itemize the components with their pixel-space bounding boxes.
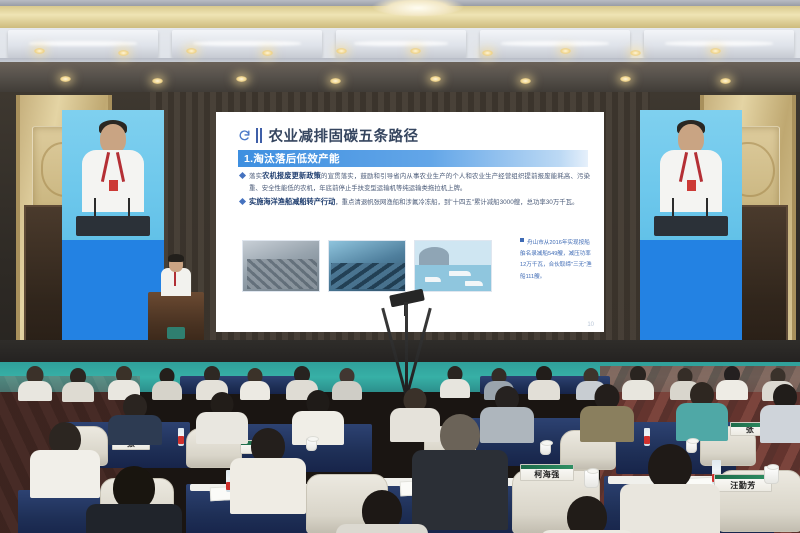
photo-harbor-boats: [414, 240, 492, 292]
water-bottle: [178, 428, 184, 446]
right-led-screen: [640, 110, 742, 365]
lectern-emblem: [167, 327, 185, 339]
ceiling-downlight: [410, 48, 421, 54]
ceiling-downlight: [186, 48, 197, 54]
lectern-top: [654, 216, 728, 236]
placard-label: 柯海强: [534, 469, 560, 480]
speaker-video-feed: [640, 110, 742, 240]
photo-farm-machinery-scrapping: 完善农机报废更新政策: [242, 240, 320, 292]
ceiling-downlight: [336, 48, 347, 54]
section-banner-label: 1.淘汰落后低效产能: [238, 151, 340, 166]
slide-bullet: 实施海洋渔船减船转产行动，重点清退帆张网渔船和涉氟冷冻船，到"十四五"累计减船3…: [240, 196, 590, 209]
ceiling-soffit: [0, 62, 800, 96]
ceiling-downlight: [262, 50, 273, 56]
boat: [425, 277, 441, 282]
diamond-bullet-icon: [239, 198, 246, 205]
speaker-on-stage-body: [161, 268, 191, 296]
slide-bullet-list: 落实农机报废更新政策的宣贯落实，鼓励和引导省内从事农业生产的个人和农业生产经营组…: [240, 170, 590, 210]
conference-hall-photo: 农业减排固碳五条路径 1.淘汰落后低效产能 落实农机报废更新政策的宣贯落实，鼓励…: [0, 0, 800, 533]
ceiling-coffer: [172, 30, 322, 58]
name-badge: [687, 180, 696, 191]
photo-fishing-vessel-reduction: 海洋渔船减船: [328, 240, 406, 292]
ceiling-downlight: [152, 78, 163, 84]
ceiling-downlight: [236, 76, 247, 82]
slide-bullet-text: 落实农机报废更新政策的宣贯落实，鼓励和引导省内从事农业生产的个人和农业生产经营组…: [249, 170, 590, 194]
attendee: [108, 394, 162, 440]
attendee: [760, 384, 800, 438]
attendee: [230, 428, 306, 508]
ceiling-downlight: [330, 78, 341, 84]
ceiling-coffer: [8, 30, 158, 58]
audience-area: 张 张 皮: [0, 366, 800, 533]
ceiling-coffer: [644, 30, 794, 58]
boat: [449, 271, 471, 276]
ceiling-downlight: [118, 50, 129, 56]
attendee: [540, 496, 634, 533]
speaker-on-stage-hair: [168, 254, 184, 262]
ceiling: [0, 0, 800, 96]
square-bullet-icon: [520, 238, 524, 242]
ceiling-downlight: [720, 78, 731, 84]
slide-side-note: 舟山市从2016年实现按船舶名录减船549艘，减压功率12万千瓦，合伙取缔"三无…: [520, 238, 594, 283]
ceiling-downlight: [34, 48, 45, 54]
tea-cup: [584, 470, 599, 488]
slide-bullet: 落实农机报废更新政策的宣贯落实，鼓励和引导省内从事农业生产的个人和农业生产经营组…: [240, 170, 590, 194]
slide-header: 农业减排固碳五条路径: [238, 122, 590, 148]
island-shape: [419, 247, 449, 265]
lectern: [148, 292, 204, 344]
title-accent-bars: [256, 128, 262, 143]
attendee: [62, 368, 94, 400]
ceiling-downlight: [482, 50, 493, 56]
diamond-bullet-icon: [239, 172, 246, 179]
ceiling-downlight: [430, 76, 441, 82]
slide-bullet-text: 实施海洋渔船减船转产行动，重点清退帆张网渔船和涉氟冷冻船，到"十四五"累计减船3…: [249, 196, 578, 209]
ceiling-downlight: [560, 48, 571, 54]
tea-cup: [540, 442, 551, 455]
attendee: [676, 382, 728, 436]
ceiling-downlight: [630, 50, 641, 56]
tea-cup: [306, 438, 317, 451]
attendee: [620, 444, 720, 533]
attendee: [18, 366, 52, 398]
side-note-text: 舟山市从2016年实现按船舶名录减船549艘，减压功率12万千瓦，合伙取缔"三无…: [520, 238, 594, 283]
slide-title: 农业减排固碳五条路径: [269, 125, 419, 146]
attendee: [86, 466, 182, 533]
name-placard-ke-haiqiang: 柯海强: [520, 464, 574, 481]
attendee: [440, 366, 470, 396]
placard-label: 汪勤芳: [730, 480, 756, 491]
speaker-lanyard: [174, 270, 176, 286]
ceiling-downlight: [620, 76, 631, 82]
speaker-video-feed: [62, 110, 164, 240]
attendee: [336, 490, 428, 533]
ceiling-downlight: [520, 78, 531, 84]
tea-cup: [764, 466, 779, 484]
ceiling-downlight: [60, 76, 71, 82]
ceiling-coffer: [336, 30, 466, 58]
ceiling-coffer: [480, 30, 630, 58]
refresh-circle-icon: [238, 129, 251, 142]
name-badge: [109, 180, 118, 191]
lectern-top: [76, 216, 150, 236]
attendee: [580, 384, 634, 438]
ceiling-downlight: [710, 48, 721, 54]
boat: [465, 281, 483, 286]
slide-page-number: 10: [587, 322, 594, 328]
slide-section-banner: 1.淘汰落后低效产能: [238, 150, 588, 167]
